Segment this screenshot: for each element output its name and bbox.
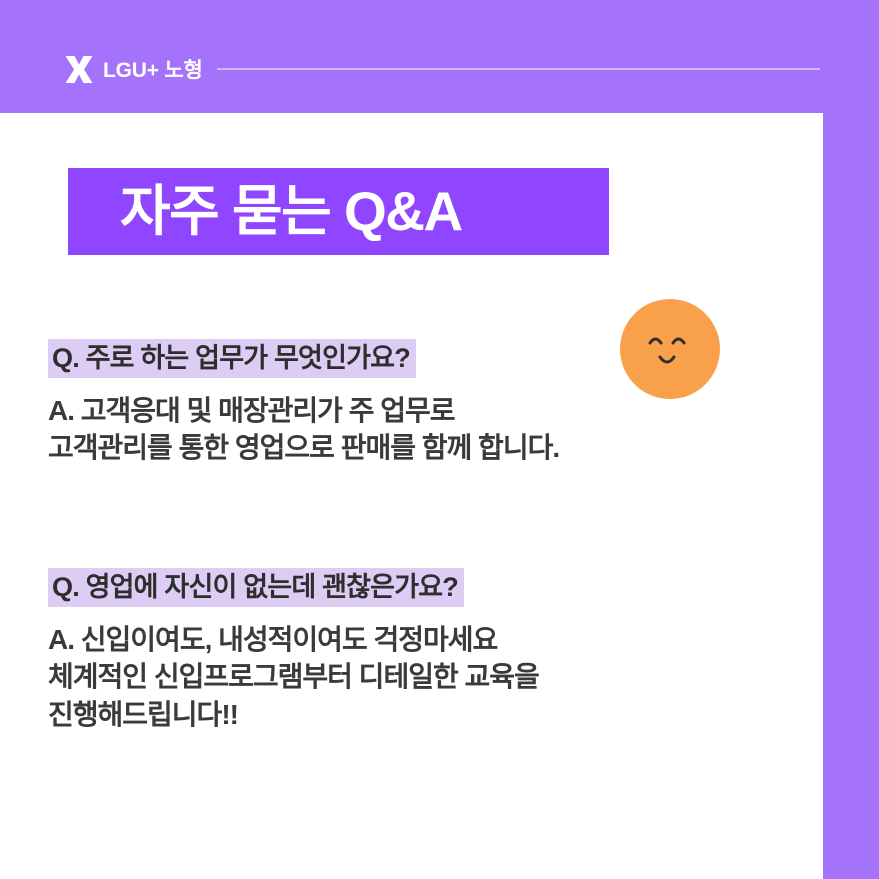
faq-answer-line: 진행해드립니다!! xyxy=(48,696,808,734)
page-title: 자주 묻는 Q&A xyxy=(68,184,462,239)
content-panel: 자주 묻는 Q&A Q. 주로 하는 업무가 무엇인가요? A. 고객응대 및 … xyxy=(0,113,823,879)
header-divider xyxy=(217,68,820,70)
brand-name: LGU+ 노형 xyxy=(103,54,203,84)
faq-answer: A. 고객응대 및 매장관리가 주 업무로 고객관리를 통한 영업으로 판매를 … xyxy=(48,392,808,467)
title-banner: 자주 묻는 Q&A xyxy=(68,168,609,255)
faq-item: Q. 주로 하는 업무가 무엇인가요? A. 고객응대 및 매장관리가 주 업무… xyxy=(48,339,808,467)
faq-question: Q. 영업에 자신이 없는데 괜찮은가요? xyxy=(48,568,464,607)
brand-lockup: LGU+ 노형 xyxy=(64,52,203,86)
faq-answer-line: A. 고객응대 및 매장관리가 주 업무로 xyxy=(48,392,808,430)
faq-answer-line: 고객관리를 통한 영업으로 판매를 함께 합니다. xyxy=(48,429,808,467)
card-header: LGU+ 노형 xyxy=(0,0,879,113)
lguplus-x-logo-icon xyxy=(64,56,94,83)
faq-answer: A. 신입이여도, 내성적이여도 걱정마세요 체계적인 신입프로그램부터 디테일… xyxy=(48,621,808,734)
faq-answer-line: A. 신입이여도, 내성적이여도 걱정마세요 xyxy=(48,621,808,659)
faq-card: LGU+ 노형 자주 묻는 Q&A Q. 주로 하는 업무가 무엇인가요? A.… xyxy=(0,0,879,879)
faq-item: Q. 영업에 자신이 없는데 괜찮은가요? A. 신입이여도, 내성적이여도 걱… xyxy=(48,568,808,733)
faq-question: Q. 주로 하는 업무가 무엇인가요? xyxy=(48,339,416,378)
faq-answer-line: 체계적인 신입프로그램부터 디테일한 교육을 xyxy=(48,658,808,696)
